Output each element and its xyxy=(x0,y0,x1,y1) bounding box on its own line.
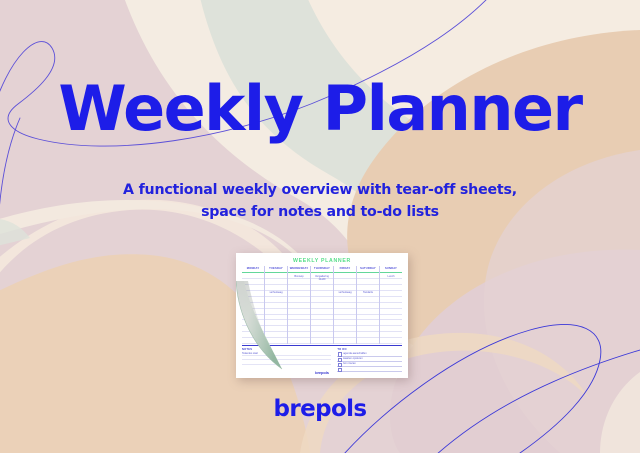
day-body-monday xyxy=(242,273,264,345)
todo-label: TO DO xyxy=(337,348,402,351)
day-body-sunday: Lunch xyxy=(380,273,402,345)
todo-item-label: kaarten opsturen xyxy=(343,357,362,361)
ruled-lines xyxy=(242,273,264,345)
planner-bottom-section: NOTES Tekenles start TO DO agenda aansch… xyxy=(242,348,402,370)
decorative-line-swirl-bottom xyxy=(0,0,640,453)
product-planner-sheet: WEEKLY PLANNER MONDAY TUESDAY verhuiswag xyxy=(236,253,408,378)
page-subtitle: A functional weekly overview with tear-o… xyxy=(0,180,640,223)
notes-text: Tekenles start xyxy=(242,352,258,356)
day-entry-tuesday: verhuiswag xyxy=(266,291,286,294)
day-column-friday: FRIDAY verhuiswag xyxy=(334,266,357,344)
day-header-tuesday: TUESDAY xyxy=(265,266,287,273)
page-title: Weekly Planner xyxy=(0,78,640,140)
ruled-lines xyxy=(288,273,310,345)
planner-section-divider xyxy=(242,345,402,346)
day-column-saturday: SATURDAY Tandarts xyxy=(357,266,380,344)
planner-week-grid: MONDAY TUESDAY verhuiswag WEDNESDAY xyxy=(242,266,402,344)
subtitle-line-1: A functional weekly overview with tear-o… xyxy=(123,182,517,198)
checkbox-icon xyxy=(338,352,342,356)
day-body-thursday: Vergadering 11u00 xyxy=(311,273,333,345)
ruled-lines xyxy=(334,273,356,345)
planner-todo-block: TO DO agenda aanschaffen kaarten opsture… xyxy=(337,348,402,370)
planner-sheet-brand: brepols xyxy=(236,370,408,375)
todo-list: agenda aanschaffen kaarten opsturen bon … xyxy=(337,352,402,372)
day-entry-sunday: Lunch xyxy=(381,275,401,278)
day-header-monday: MONDAY xyxy=(242,266,264,273)
day-entry-friday: verhuiswag xyxy=(335,291,355,294)
ruled-lines xyxy=(380,273,402,345)
checkbox-icon xyxy=(338,363,342,367)
planner-sheet-page: WEEKLY PLANNER MONDAY TUESDAY verhuiswag xyxy=(236,253,408,378)
day-column-sunday: SUNDAY Lunch xyxy=(380,266,402,344)
subtitle-line-2: space for notes and to-do lists xyxy=(201,204,439,220)
day-header-wednesday: WEDNESDAY xyxy=(288,266,310,273)
planner-notes-block: NOTES Tekenles start xyxy=(242,348,331,370)
day-body-friday: verhuiswag xyxy=(334,273,356,345)
day-column-tuesday: TUESDAY verhuiswag xyxy=(265,266,288,344)
todo-item-label: bon inscan xyxy=(343,362,356,366)
day-body-wednesday: Boxwop xyxy=(288,273,310,345)
ruled-lines xyxy=(311,273,333,345)
day-entry-saturday: Tandarts xyxy=(358,291,378,294)
day-body-saturday: Tandarts xyxy=(357,273,379,345)
todo-item-label: agenda aanschaffen xyxy=(343,352,366,356)
day-column-monday: MONDAY xyxy=(242,266,265,344)
day-header-friday: FRIDAY xyxy=(334,266,356,273)
brand-logo: brepols xyxy=(0,396,640,422)
day-column-thursday: THURSDAY Vergadering 11u00 xyxy=(311,266,334,344)
day-column-wednesday: WEDNESDAY Boxwop xyxy=(288,266,311,344)
ruled-lines xyxy=(265,273,287,345)
ruled-lines xyxy=(357,273,379,345)
day-entry-thursday: Vergadering 11u00 xyxy=(312,275,332,281)
day-header-sunday: SUNDAY xyxy=(380,266,402,273)
day-body-tuesday: verhuiswag xyxy=(265,273,287,345)
poster-canvas: Weekly Planner A functional weekly overv… xyxy=(0,0,640,453)
day-header-saturday: SATURDAY xyxy=(357,266,379,273)
planner-sheet-title: WEEKLY PLANNER xyxy=(236,258,408,264)
day-header-thursday: THURSDAY xyxy=(311,266,333,273)
hero-block: Weekly Planner A functional weekly overv… xyxy=(0,78,640,140)
checkbox-icon xyxy=(338,358,342,362)
day-entry-wednesday: Boxwop xyxy=(289,275,309,278)
